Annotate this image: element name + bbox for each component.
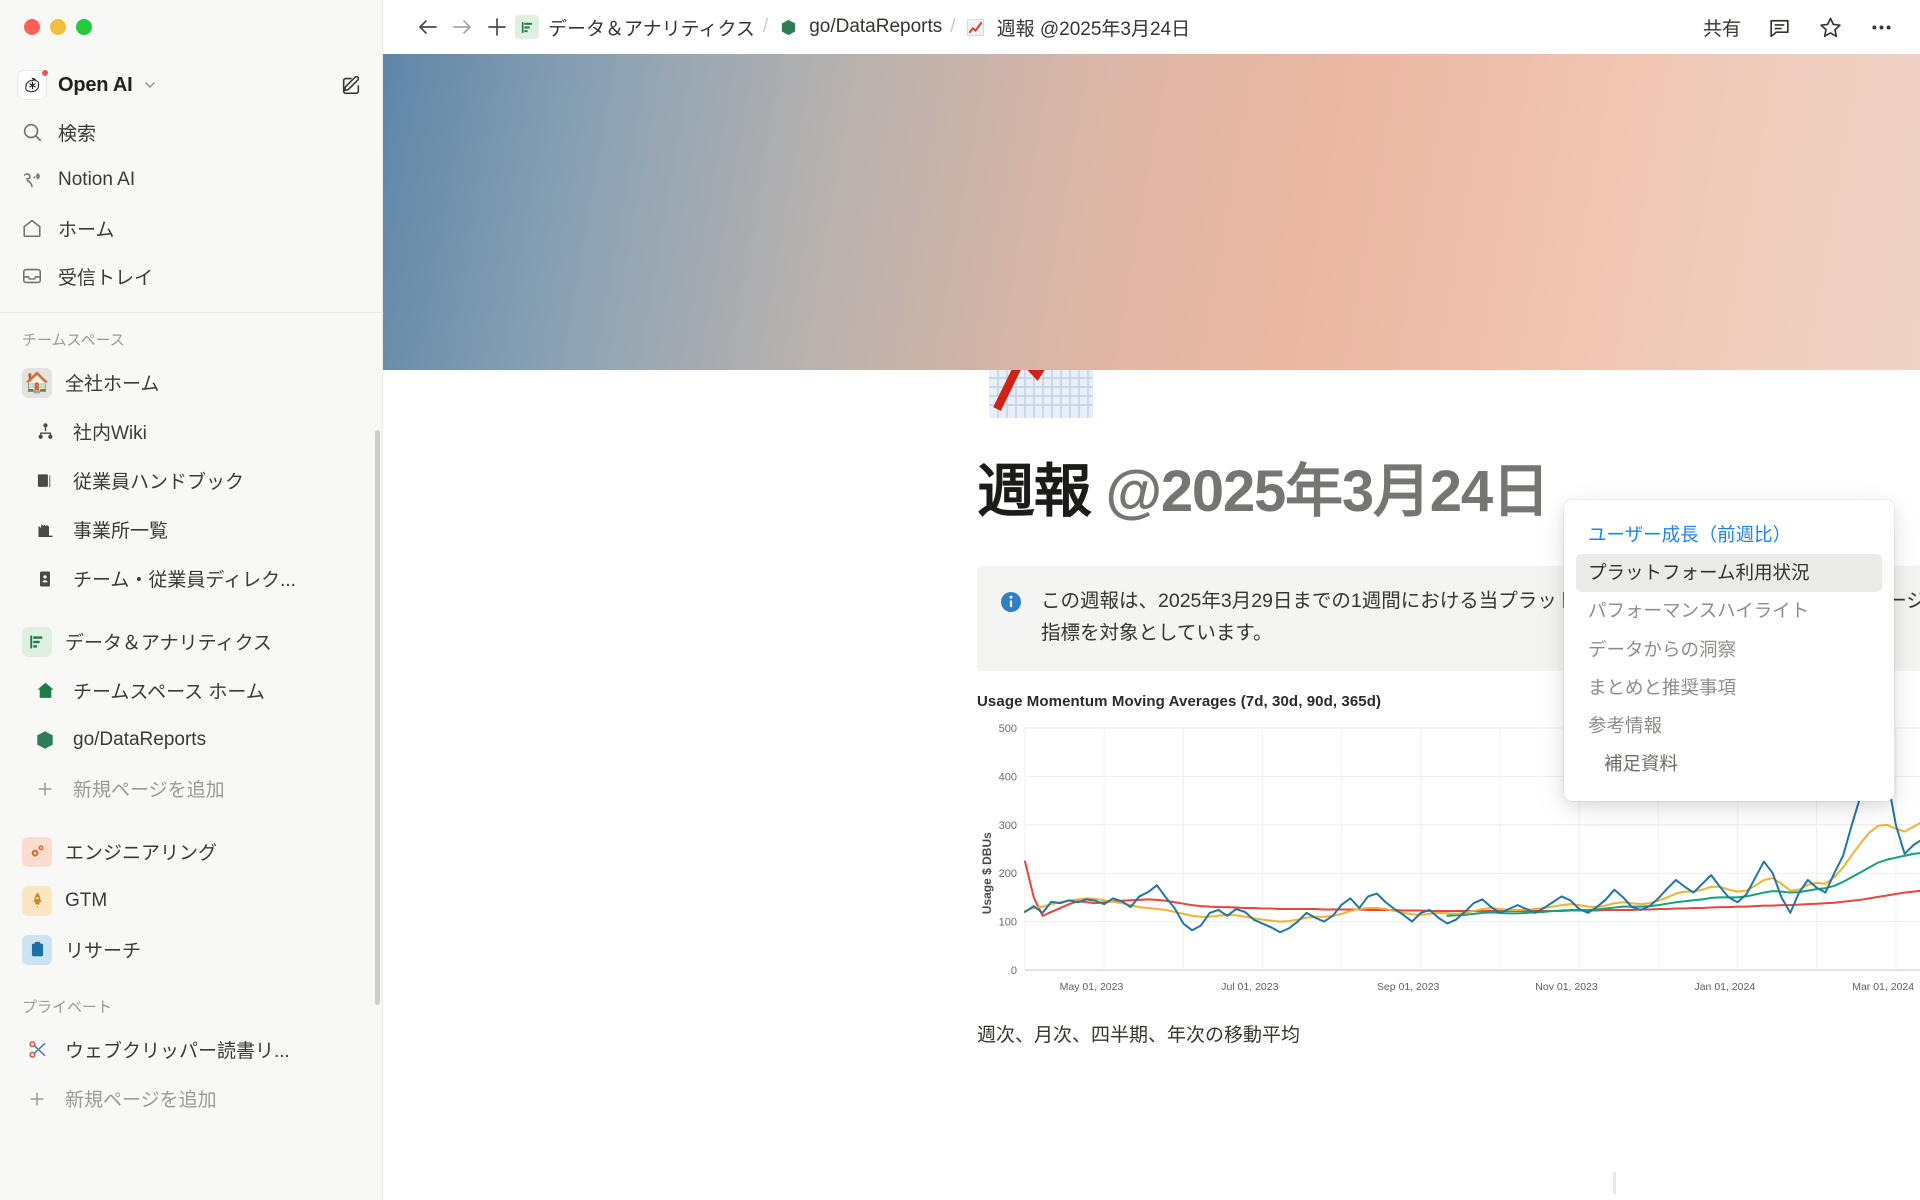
minimize-window-button[interactable] <box>50 19 66 35</box>
svg-text:Jul 01, 2023: Jul 01, 2023 <box>1221 981 1278 993</box>
hexagon-icon <box>30 725 60 755</box>
sidebar-item-research[interactable]: リサーチ <box>0 925 382 974</box>
sidebar-add-page-private[interactable]: 新規ページを追加 <box>0 1074 382 1123</box>
sidebar-item-employee-handbook[interactable]: 従業員ハンドブック <box>0 456 382 505</box>
people-network-icon <box>30 417 60 447</box>
plus-icon <box>22 1084 52 1114</box>
books-emoji-icon <box>30 466 60 496</box>
plus-icon <box>30 774 60 804</box>
sidebar-item-label: go/DataReports <box>73 729 206 751</box>
sidebar-item-label: 新規ページを追加 <box>73 775 225 802</box>
rocket-emoji-icon <box>22 886 52 916</box>
star-icon[interactable] <box>1818 15 1843 40</box>
hexagon-icon <box>776 15 800 39</box>
more-horizontal-icon[interactable] <box>1869 15 1894 40</box>
chevron-down-icon[interactable] <box>142 77 158 93</box>
sidebar-add-page-teamspace[interactable]: 新規ページを追加 <box>0 764 382 813</box>
svg-text:Mar 01, 2024: Mar 01, 2024 <box>1852 981 1914 993</box>
bar-chart-emoji-icon <box>515 15 539 39</box>
sidebar-item-label: 事業所一覧 <box>73 516 168 543</box>
sidebar-item-search[interactable]: 検索 <box>0 108 382 156</box>
sidebar-item-label: ウェブクリッパー読書リ... <box>65 1036 290 1063</box>
text-cursor <box>1613 1172 1616 1194</box>
section-heading-private: プライベート <box>0 990 382 1025</box>
table-of-contents-panel[interactable]: ユーザー成長（前週比） プラットフォーム利用状況 パフォーマンスハイライト デー… <box>1564 500 1894 801</box>
svg-text:Usage $ DBUs: Usage $ DBUs <box>980 832 994 914</box>
sidebar-item-label: エンジニアリング <box>65 838 217 865</box>
sidebar-item-web-clipper[interactable]: ウェブクリッパー読書リ... <box>0 1025 382 1074</box>
sidebar-divider <box>0 312 382 313</box>
svg-text:400: 400 <box>999 772 1017 784</box>
sidebar-item-inbox[interactable]: 受信トレイ <box>0 252 382 300</box>
chart-caption: 週次、月次、四半期、年次の移動平均 <box>977 1020 1920 1047</box>
sidebar-scrollbar[interactable] <box>375 430 380 1005</box>
top-bar: データ＆アナリティクス / go/DataReports / 週報 @2025年… <box>383 0 1920 54</box>
back-button[interactable] <box>411 15 445 39</box>
breadcrumb-separator: / <box>755 16 776 38</box>
svg-text:100: 100 <box>999 917 1017 929</box>
sidebar-item-label: GTM <box>65 890 107 912</box>
breadcrumb-item-go-datareports[interactable]: go/DataReports <box>776 15 942 39</box>
page-title-main: 週報 <box>977 459 1091 524</box>
toc-item-performance-highlights[interactable]: パフォーマンスハイライト <box>1576 592 1882 630</box>
info-icon <box>999 586 1023 649</box>
office-building-icon <box>30 515 60 545</box>
sidebar-item-label: ホーム <box>58 215 114 242</box>
svg-text:0: 0 <box>1011 965 1017 977</box>
sidebar-item-label: 検索 <box>58 119 96 146</box>
svg-text:Nov 01, 2023: Nov 01, 2023 <box>1535 981 1598 993</box>
workspace-notification-badge <box>40 68 50 78</box>
chart-increasing-emoji-icon <box>964 15 988 39</box>
sidebar-item-notion-ai[interactable]: Notion AI <box>0 156 382 204</box>
breadcrumb-item-current-page[interactable]: 週報 @2025年3月24日 <box>964 14 1191 41</box>
sidebar: Open AI 検索 Notion AI <box>0 0 383 1200</box>
notion-window: Open AI 検索 Notion AI <box>0 0 1920 1200</box>
sidebar-item-label: Notion AI <box>58 169 135 191</box>
top-bar-actions: 共有 <box>1703 14 1894 41</box>
bar-chart-emoji-icon <box>22 627 52 657</box>
workspace-name: Open AI <box>58 74 133 97</box>
close-window-button[interactable] <box>24 19 40 35</box>
breadcrumb-label: go/DataReports <box>809 16 942 38</box>
sidebar-item-gtm[interactable]: GTM <box>0 876 382 925</box>
breadcrumb-item-data-analytics[interactable]: データ＆アナリティクス <box>515 14 755 41</box>
sidebar-item-label: 社内Wiki <box>73 418 147 445</box>
sidebar-item-label: 従業員ハンドブック <box>73 467 244 494</box>
breadcrumb-separator: / <box>942 16 963 38</box>
id-card-icon <box>30 564 60 594</box>
sidebar-item-label: チーム・従業員ディレク... <box>73 565 296 592</box>
sidebar-item-go-datareports[interactable]: go/DataReports <box>0 715 382 764</box>
new-page-icon[interactable] <box>340 74 362 96</box>
breadcrumb-label: データ＆アナリティクス <box>548 14 755 41</box>
clipboard-emoji-icon <box>22 935 52 965</box>
svg-text:May 01, 2023: May 01, 2023 <box>1060 981 1124 993</box>
zoom-window-button[interactable] <box>76 19 92 35</box>
new-page-button[interactable] <box>479 15 515 39</box>
sidebar-item-team-directory[interactable]: チーム・従業員ディレク... <box>0 554 382 603</box>
house-emoji-icon: 🏠 <box>22 368 52 398</box>
inbox-icon <box>18 265 46 287</box>
sidebar-item-office-list[interactable]: 事業所一覧 <box>0 505 382 554</box>
svg-text:300: 300 <box>999 820 1017 832</box>
toc-item-data-insights[interactable]: データからの洞察 <box>1576 631 1882 669</box>
toc-item-summary-recommendations[interactable]: まとめと推奨事項 <box>1576 669 1882 707</box>
search-icon <box>18 121 46 143</box>
toc-item-references[interactable]: 参考情報 <box>1576 707 1882 745</box>
main-content: データ＆アナリティクス / go/DataReports / 週報 @2025年… <box>383 0 1920 1200</box>
sidebar-item-label: 全社ホーム <box>65 369 159 396</box>
sidebar-item-label: 新規ページを追加 <box>65 1085 217 1112</box>
toc-item-platform-usage[interactable]: プラットフォーム利用状況 <box>1576 554 1882 592</box>
scissors-emoji-icon <box>22 1035 52 1065</box>
chart-increasing-emoji[interactable] <box>989 370 1093 418</box>
window-traffic-lights <box>0 0 382 52</box>
sidebar-item-internal-wiki[interactable]: 社内Wiki <box>0 407 382 456</box>
toc-item-user-growth[interactable]: ユーザー成長（前週比） <box>1576 516 1882 554</box>
sidebar-item-label: 受信トレイ <box>58 263 153 290</box>
sidebar-item-home[interactable]: ホーム <box>0 204 382 252</box>
svg-text:200: 200 <box>999 868 1017 880</box>
svg-text:Jan 01, 2024: Jan 01, 2024 <box>1694 981 1755 993</box>
sidebar-item-label: データ＆アナリティクス <box>65 628 272 655</box>
svg-text:500: 500 <box>999 723 1017 735</box>
workspace-switcher[interactable]: Open AI <box>0 62 382 108</box>
sidebar-item-label: リサーチ <box>65 936 141 963</box>
sidebar-item-teamspace-home[interactable]: チームスペース ホーム <box>0 666 382 715</box>
page-title-date: @2025年3月24日 <box>1091 459 1549 524</box>
toc-item-appendix[interactable]: 補足資料 <box>1576 745 1882 783</box>
sidebar-item-data-analytics[interactable]: データ＆アナリティクス <box>0 617 382 666</box>
breadcrumb-label: 週報 @2025年3月24日 <box>997 14 1191 41</box>
share-button[interactable]: 共有 <box>1703 14 1741 41</box>
sidebar-item-engineering[interactable]: エンジニアリング <box>0 827 382 876</box>
openai-logo-icon <box>18 71 46 99</box>
svg-text:Sep 01, 2023: Sep 01, 2023 <box>1377 981 1440 993</box>
green-house-icon <box>30 676 60 706</box>
sidebar-item-company-home[interactable]: 🏠 全社ホーム <box>0 358 382 407</box>
sidebar-item-label: チームスペース ホーム <box>73 677 265 704</box>
section-heading-teamspace: チームスペース <box>0 323 382 358</box>
forward-button[interactable] <box>445 15 479 39</box>
home-icon <box>18 217 46 239</box>
gears-emoji-icon <box>22 837 52 867</box>
page-cover-image[interactable] <box>383 54 1920 370</box>
comment-icon[interactable] <box>1767 15 1792 40</box>
notion-ai-icon <box>18 169 46 191</box>
